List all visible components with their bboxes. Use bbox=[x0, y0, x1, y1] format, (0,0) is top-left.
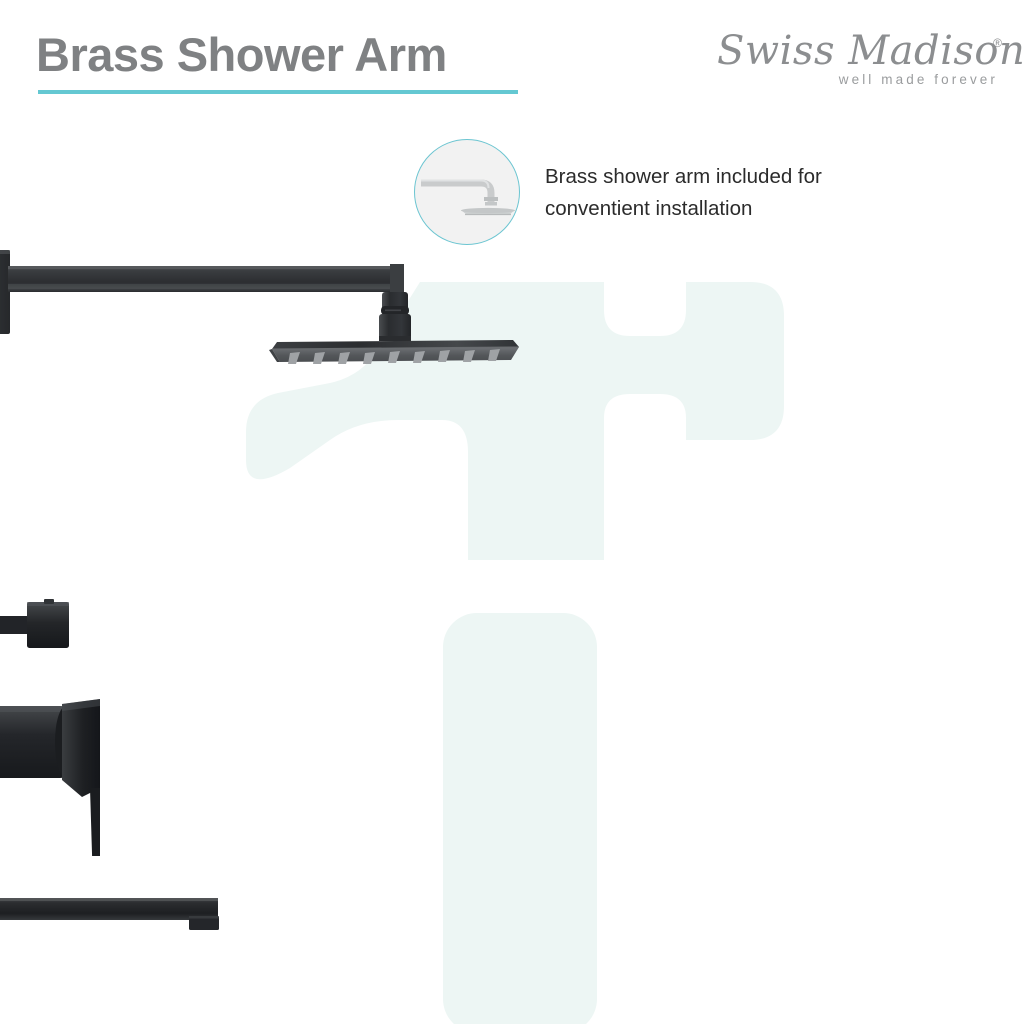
valve-lever-tail bbox=[90, 788, 100, 856]
feature-text: Brass shower arm included for conventien… bbox=[545, 161, 915, 225]
valve-hub-highlight bbox=[0, 706, 68, 712]
shower-arm-svg bbox=[0, 236, 546, 396]
product-valve-trim bbox=[0, 556, 166, 856]
feature-text-line-2: conventient installation bbox=[545, 197, 752, 220]
shower-arm-top-highlight bbox=[8, 266, 400, 269]
feature-icon-circle bbox=[414, 139, 520, 245]
brand-wordmark: Swiss Madison bbox=[717, 28, 1002, 74]
brand-tagline: well made forever bbox=[839, 72, 998, 87]
title-underline-rule bbox=[38, 90, 518, 94]
spout-top-highlight bbox=[0, 898, 218, 901]
shower-arm-pipe bbox=[421, 183, 491, 202]
spout-outlet-highlight bbox=[189, 916, 219, 919]
swivel-joint-seam bbox=[385, 310, 401, 312]
shower-arm-bottom-bevel bbox=[8, 284, 400, 289]
shower-arm-icon bbox=[415, 140, 519, 244]
tub-spout-svg bbox=[0, 852, 256, 972]
product-tub-spout bbox=[0, 852, 256, 972]
arm-collar-2 bbox=[485, 202, 497, 206]
page-title: Brass Shower Arm bbox=[36, 28, 447, 82]
swivel-joint-base bbox=[379, 336, 411, 341]
diverter-stem bbox=[0, 616, 30, 634]
product-marketing-image: Brass Shower Arm Swiss Madison ® well ma… bbox=[0, 0, 1024, 1024]
product-shower-arm-assembly bbox=[0, 236, 546, 396]
brand-logo: Swiss Madison ® well made forever bbox=[717, 28, 1002, 90]
rounded-column-watermark bbox=[443, 613, 597, 1024]
wall-flange-top-highlight bbox=[0, 250, 10, 254]
feature-text-line-1: Brass shower arm included for bbox=[545, 165, 822, 188]
arm-collar-1 bbox=[484, 197, 498, 201]
shower-arm-end-cap bbox=[390, 264, 404, 294]
registered-trademark-icon: ® bbox=[993, 36, 1002, 50]
valve-trim-svg bbox=[0, 556, 166, 856]
shower-head-top bbox=[461, 208, 515, 213]
diverter-button bbox=[27, 602, 69, 648]
valve-lever-handle bbox=[62, 699, 100, 797]
diverter-button-cap bbox=[44, 599, 54, 604]
feature-callout: Brass shower arm included for conventien… bbox=[414, 139, 914, 251]
spout-body bbox=[0, 898, 218, 920]
